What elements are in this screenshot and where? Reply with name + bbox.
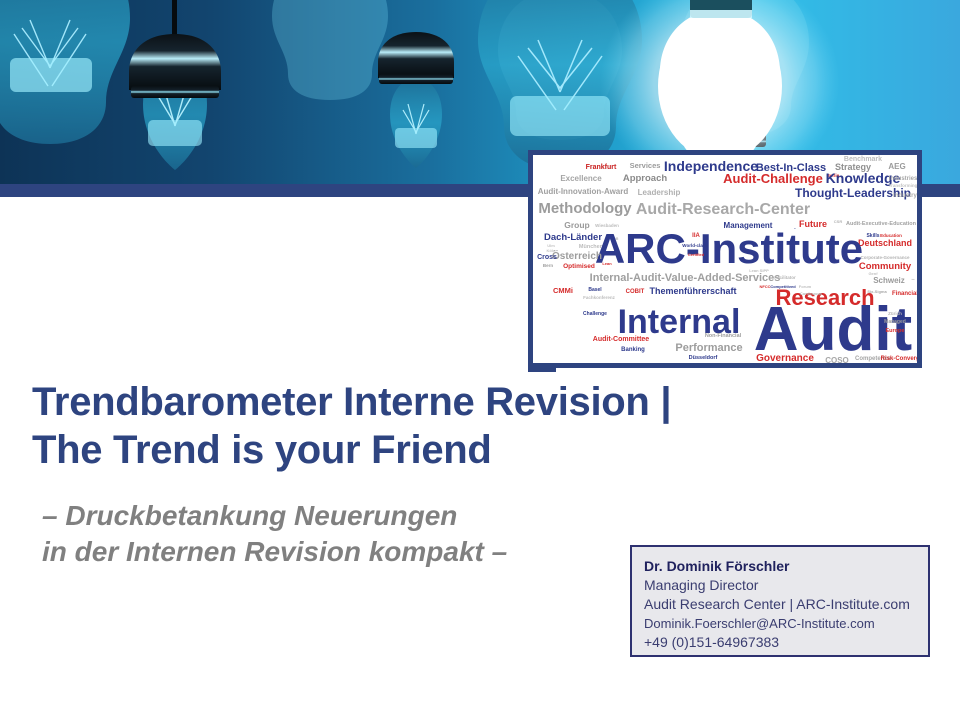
svg-text:Governance: Governance: [756, 353, 814, 363]
contact-card: Dr. Dominik Förschler Managing Director …: [630, 545, 930, 657]
svg-text:Dach-Länder: Dach-Länder: [544, 232, 602, 243]
contact-name: Dr. Dominik Förschler: [644, 557, 928, 576]
svg-text:Corporate-Governance: Corporate-Governance: [860, 255, 910, 260]
title-line-2: The Trend is your Friend: [32, 426, 632, 474]
svg-text:COSO: COSO: [825, 356, 849, 363]
svg-text:Basel: Basel: [588, 287, 602, 293]
svg-text:Bern: Bern: [543, 263, 554, 268]
svg-text:Lean: Lean: [602, 261, 612, 266]
svg-text:Performance: Performance: [675, 342, 742, 354]
svg-text:Leadership: Leadership: [638, 188, 681, 197]
svg-text:CSR: CSR: [834, 219, 843, 224]
svg-text:Optimised: Optimised: [563, 263, 595, 270]
contact-role: Managing Director: [644, 576, 928, 595]
svg-text:World-class: World-class: [682, 243, 708, 248]
svg-text:IIA: IIA: [692, 233, 700, 239]
svg-text:Europe: Europe: [886, 328, 905, 334]
svg-text:Community: Community: [859, 261, 912, 272]
title-line-1: Trendbarometer Interne Revision |: [32, 378, 632, 426]
contact-email[interactable]: Dominik.Foerschler@ARC-Institute.com: [644, 614, 928, 633]
svg-text:Österreich: Österreich: [552, 249, 602, 262]
svg-text:Zürich: Zürich: [888, 311, 902, 316]
word-cloud-image: Frankfurt Frankfurt Services Independenc…: [533, 155, 917, 363]
svg-text:Benchmark: Benchmark: [844, 156, 882, 163]
svg-text:Risk-Convergence: Risk-Convergence: [881, 356, 917, 362]
presentation-slide: Frankfurt Frankfurt Services Independenc…: [0, 0, 960, 720]
svg-text:Audit-Research-Center: Audit-Research-Center: [636, 201, 810, 218]
svg-text:CMMi: CMMi: [553, 286, 573, 295]
svg-text:Internal-Audit-Value-Added-Ser: Internal-Audit-Value-Added-Services: [590, 272, 781, 284]
svg-text:Düsseldorf: Düsseldorf: [689, 355, 718, 361]
svg-text:Certified: Certified: [688, 252, 705, 257]
svg-text:ARC-Institute: ARC-Institute: [595, 225, 863, 272]
svg-text:Continuous-Auditing: Continuous-Auditing: [699, 362, 739, 363]
slide-subtitle: – Druckbetankung Neuerungen in der Inter…: [42, 498, 642, 570]
svg-text:Audit-Challenge: Audit-Challenge: [723, 171, 823, 186]
svg-text:Group: Group: [564, 220, 590, 230]
subtitle-line-1: – Druckbetankung Neuerungen: [42, 498, 642, 534]
svg-text:Methodology: Methodology: [538, 200, 632, 217]
svg-text:Facilitator: Facilitator: [774, 275, 796, 280]
svg-text:Managed: Managed: [884, 319, 906, 325]
svg-text:Industries: Industries: [889, 176, 917, 182]
svg-text:Excellence: Excellence: [560, 174, 602, 183]
slide-title: Trendbarometer Interne Revision | The Tr…: [32, 378, 632, 474]
svg-text:Themenführerschaft: Themenführerschaft: [649, 286, 736, 296]
svg-text:Genf: Genf: [868, 271, 878, 276]
svg-text:Audit-Innovation-Award: Audit-Innovation-Award: [538, 187, 629, 196]
word-cloud-panel: Frankfurt Frankfurt Services Independenc…: [528, 150, 922, 368]
svg-text:Non-Financial: Non-Financial: [705, 333, 742, 339]
subtitle-line-2: in der Internen Revision kompakt –: [42, 534, 642, 570]
svg-text:Deutschland: Deutschland: [858, 238, 912, 248]
svg-text:Schweiz: Schweiz: [873, 276, 905, 285]
contact-organization: Audit Research Center | ARC-Institute.co…: [644, 595, 928, 614]
svg-text:Lean SIPP: Lean SIPP: [749, 268, 769, 273]
svg-text:NFCC: NFCC: [759, 284, 770, 289]
svg-text:COBIT: COBIT: [626, 289, 645, 295]
svg-text:Industry: Industry: [893, 193, 917, 199]
svg-text:Cross: Cross: [537, 254, 557, 261]
svg-text:Approach: Approach: [623, 173, 668, 184]
svg-text:Banking: Banking: [621, 347, 645, 353]
contact-phone: +49 (0)151-64967383: [644, 633, 928, 652]
svg-text:Services: Services: [630, 161, 661, 170]
svg-text:Audit-Committee: Audit-Committee: [593, 336, 649, 343]
svg-text:Fachkonferenz: Fachkonferenz: [583, 295, 616, 300]
svg-text:Challenge: Challenge: [583, 311, 607, 317]
svg-text:Frankfurt: Frankfurt: [586, 164, 617, 171]
